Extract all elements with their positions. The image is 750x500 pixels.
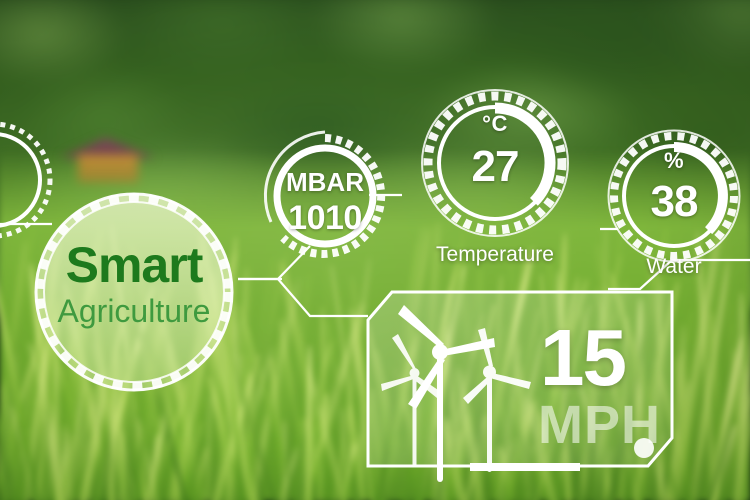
gauge-water[interactable] (609, 131, 740, 262)
gauge-temperature-label: Temperature (435, 243, 555, 267)
wind-speed-unit: MPH (538, 398, 661, 452)
brand-line-2: Agriculture (26, 294, 242, 329)
connector-hub-down (278, 279, 368, 316)
temperature-tick-ring (428, 96, 562, 230)
hud-overlay: Smart Agriculture MBAR 1010 °C 27 Temper… (0, 0, 750, 500)
brand-text-block: Smart Agriculture (26, 240, 242, 329)
water-tick-ring (614, 136, 734, 256)
wind-speed-value: 15 (540, 318, 625, 398)
temperature-progress-arc (495, 108, 550, 202)
gauge-partial-left[interactable] (0, 124, 50, 236)
screenshot-root: Smart Agriculture MBAR 1010 °C 27 Temper… (0, 0, 750, 500)
gauge-water-label: Water (614, 255, 734, 279)
wind-panel-bottom-bar (470, 463, 580, 471)
brand-line-1: Smart (26, 240, 242, 290)
gauge-temperature[interactable] (422, 90, 568, 236)
gauge-pressure[interactable] (265, 132, 381, 254)
water-progress-arc (674, 147, 723, 231)
